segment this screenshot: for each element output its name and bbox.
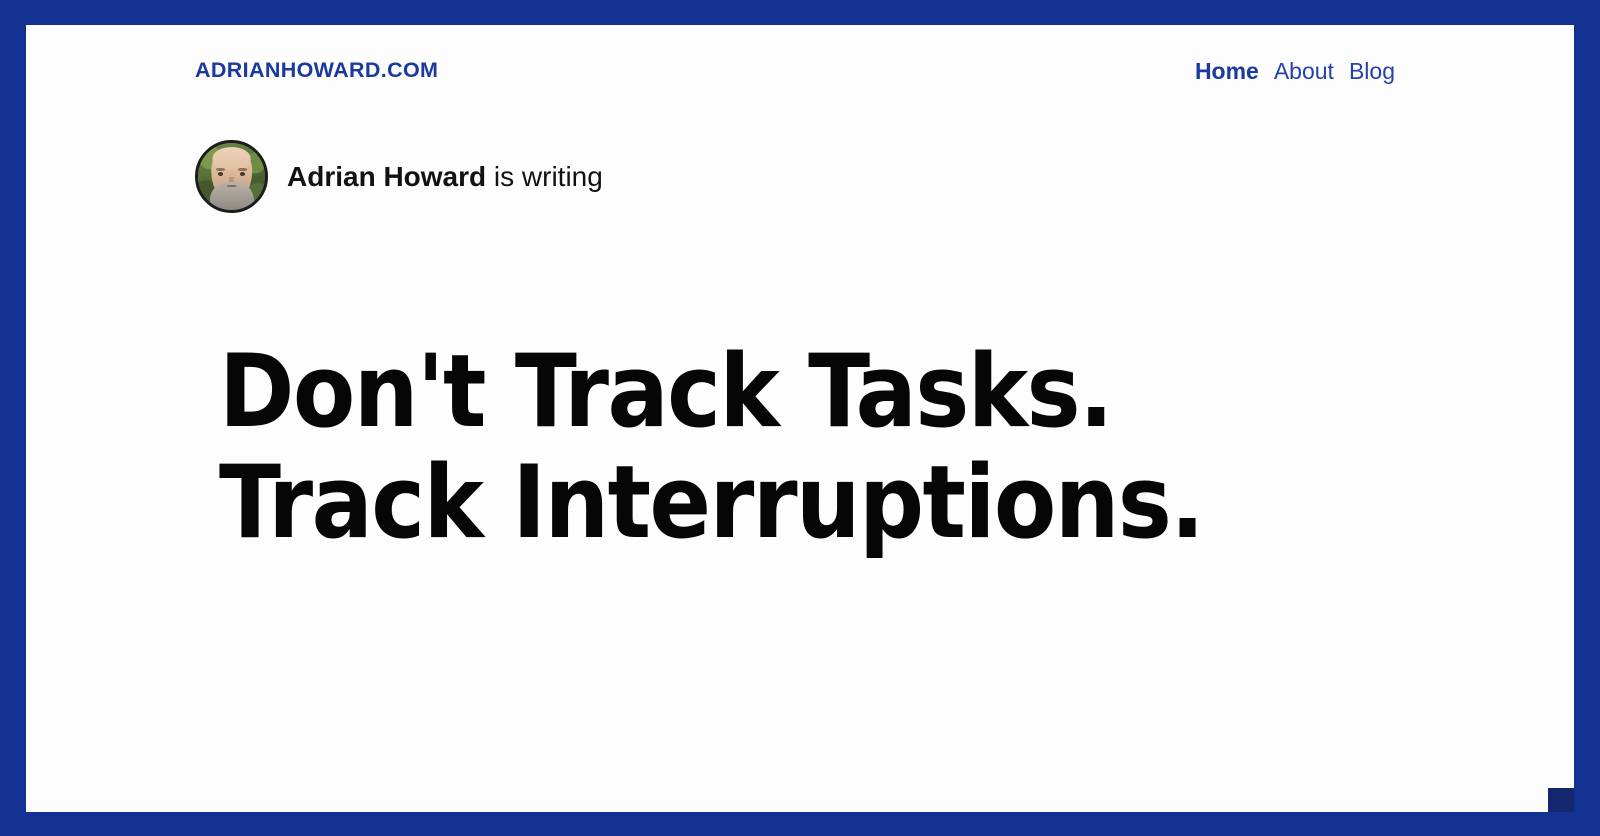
content-sheet: ADRIANHOWARD.COM Home About Blog xyxy=(26,25,1574,812)
page-title-line-2: Track Interruptions. xyxy=(219,447,1419,558)
nav-item-blog[interactable]: Blog xyxy=(1349,60,1395,83)
page-blue-frame: ADRIANHOWARD.COM Home About Blog xyxy=(0,0,1600,836)
author-name: Adrian Howard xyxy=(287,161,486,192)
nav-item-about[interactable]: About xyxy=(1274,60,1334,83)
scrollbar-corner[interactable] xyxy=(1548,788,1574,812)
avatar-brow-right xyxy=(238,168,247,171)
avatar[interactable] xyxy=(195,140,268,213)
avatar-mouth xyxy=(226,185,237,187)
nav-item-home[interactable]: Home xyxy=(1195,60,1259,83)
avatar-head xyxy=(212,147,251,170)
avatar-brow-left xyxy=(216,168,225,171)
page-title: Don't Track Tasks. Track Interruptions. xyxy=(219,336,1419,558)
byline: Adrian Howard is writing xyxy=(195,140,603,213)
avatar-eye-right xyxy=(240,172,245,175)
byline-text: Adrian Howard is writing xyxy=(287,163,603,191)
main-nav: Home About Blog xyxy=(1195,60,1395,83)
page-title-line-1: Don't Track Tasks. xyxy=(219,336,1419,447)
site-logo[interactable]: ADRIANHOWARD.COM xyxy=(195,60,438,82)
site-header: ADRIANHOWARD.COM Home About Blog xyxy=(26,25,1574,117)
byline-verb: is writing xyxy=(486,161,603,192)
